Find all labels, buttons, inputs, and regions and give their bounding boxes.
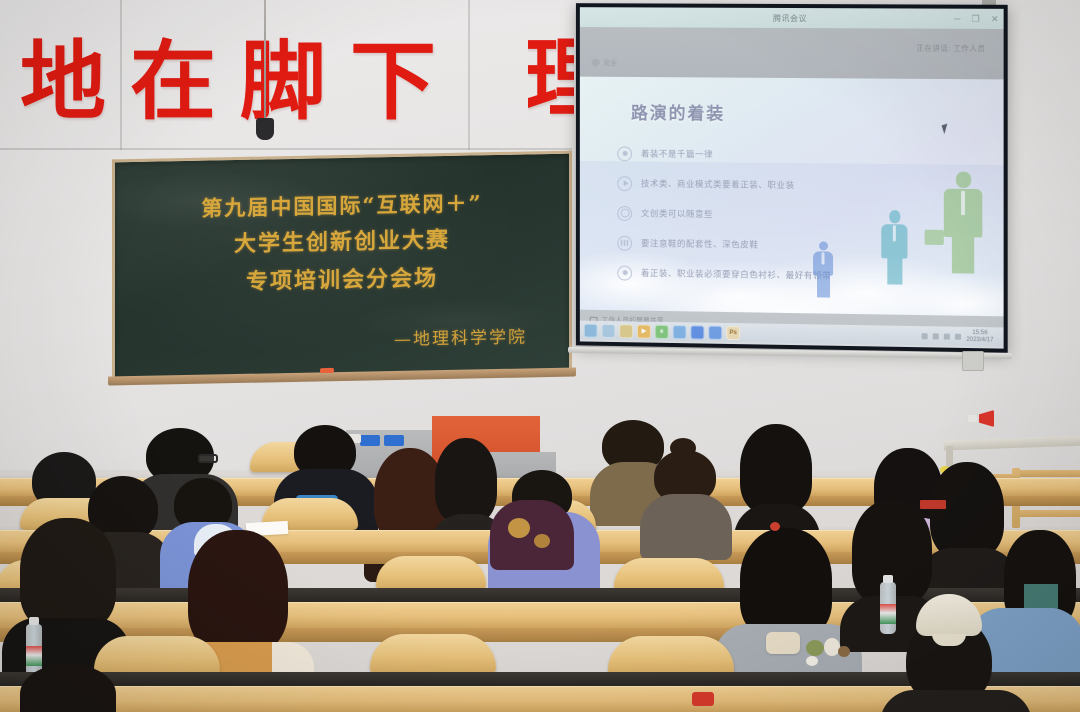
blackboard-text: 第九届中国国际“互联网＋” 大学生创新创业大赛 专项培训会分会场	[115, 184, 569, 304]
blackboard: 第九届中国国际“互联网＋” 大学生创新创业大赛 专项培训会分会场 —地理科学学院	[112, 151, 572, 382]
torso	[640, 494, 732, 560]
powerpoint-slide: 路演的着装 着装不是千篇一律 技术类、商业模式类要着正装、职业装 文创类可以随意…	[580, 77, 1004, 317]
wall-char-4: 下	[350, 39, 436, 125]
tray-icon[interactable]	[944, 333, 950, 339]
figure-head	[955, 172, 970, 188]
chair-back	[614, 558, 724, 592]
blue-container	[360, 435, 380, 446]
eyeglasses	[198, 454, 218, 463]
wire-clamp	[256, 118, 274, 140]
bottle-label	[26, 646, 42, 666]
floral-pattern	[508, 518, 530, 538]
system-tray[interactable]: 15:56 2023/4/17	[922, 329, 1000, 344]
small-red-object	[770, 522, 780, 531]
media-player-icon[interactable]: ▶	[637, 324, 651, 338]
blackboard-signature: —地理科学学院	[394, 322, 527, 350]
meeting-window-titlebar: 腾讯会议 ─ ❐ ✕	[580, 7, 1004, 29]
windows-taskbar: ▶ e Ps 15:56 2023/4/17	[580, 321, 1004, 347]
silhouette-figures	[804, 117, 996, 300]
bullet-text: 着正装、职业装必须要穿白色衬衫、最好有领带	[641, 267, 831, 282]
taskbar-clock[interactable]: 15:56 2023/4/17	[966, 330, 996, 344]
tray-icon[interactable]	[922, 333, 928, 339]
chair-back	[608, 636, 734, 676]
right-bookshelf-top	[1016, 470, 1080, 477]
bottle-cap	[883, 575, 893, 583]
target-icon	[617, 205, 632, 220]
chat-icon[interactable]	[673, 325, 687, 339]
wall-seam-bottom	[0, 148, 572, 150]
bullet-text: 技术类、商业模式类要着正装、职业装	[641, 177, 795, 191]
wall-banner: 地 在 脚 下	[20, 36, 580, 128]
chalk-piece	[320, 368, 334, 373]
badge-check-icon	[617, 265, 632, 280]
snack-items	[838, 646, 850, 657]
bottle-label	[880, 604, 896, 624]
play-icon	[617, 176, 632, 191]
floral-pattern	[534, 534, 550, 548]
meeting-toolbar-band: 正在讲话: 工作人员 安全	[580, 27, 1004, 79]
snack-wrapper	[766, 632, 800, 654]
megaphone-grip	[968, 415, 977, 422]
browser-icon[interactable]	[584, 323, 598, 337]
folder-icon[interactable]	[619, 324, 633, 338]
chair-back	[94, 636, 220, 676]
wall-char-3: 脚	[240, 39, 326, 125]
figure-head	[819, 241, 828, 250]
figure-tie	[961, 191, 965, 215]
hair	[188, 530, 288, 654]
hair-bun	[670, 438, 696, 458]
security-indicator[interactable]: 安全	[592, 58, 618, 68]
bullet-text: 着装不是千篇一律	[641, 148, 713, 161]
security-label: 安全	[603, 58, 617, 68]
hair	[435, 438, 497, 524]
businessman-small-silhouette	[808, 241, 838, 297]
figure-legs	[952, 237, 974, 274]
businesswoman-silhouette	[876, 210, 912, 285]
briefcase-icon	[925, 230, 944, 245]
red-cap-object	[692, 692, 714, 706]
slide-title: 路演的着装	[631, 99, 725, 125]
red-book	[920, 500, 946, 509]
wall-char-2: 在	[130, 39, 216, 125]
megaphone	[968, 410, 994, 432]
badge-check-icon	[617, 146, 632, 161]
grid-icon	[617, 235, 632, 250]
bullet-text: 要注意鞋的配套性、深色皮鞋	[641, 237, 758, 251]
meeting-icon[interactable]	[690, 325, 704, 339]
figure-head	[889, 210, 900, 223]
ie-browser-icon[interactable]: e	[655, 324, 669, 338]
compass-icon[interactable]	[602, 323, 616, 337]
minimize-icon[interactable]: ─	[954, 14, 960, 24]
right-bookshelf-mid	[1018, 510, 1080, 517]
hair	[20, 518, 116, 630]
mouse-cursor-icon	[942, 124, 951, 134]
close-icon[interactable]: ✕	[991, 13, 999, 24]
wall-char-partial: 理	[528, 36, 574, 122]
tray-icon[interactable]	[933, 333, 939, 339]
hair	[740, 528, 832, 638]
figure-legs	[817, 275, 830, 297]
photos-icon[interactable]	[708, 325, 722, 339]
active-speaker-label: 正在讲话: 工作人员	[916, 43, 985, 54]
bottle-cap	[29, 617, 39, 625]
torso	[490, 500, 574, 570]
wall-char-1: 地	[20, 39, 106, 125]
water-bottle	[26, 624, 42, 676]
projected-image: 腾讯会议 ─ ❐ ✕ 正在讲话: 工作人员 安全 路演的着装	[580, 7, 1004, 348]
tray-icon[interactable]	[955, 333, 961, 339]
window-controls: ─ ❐ ✕	[954, 9, 999, 29]
snack-items	[806, 640, 824, 656]
figure-collar	[893, 225, 896, 241]
shield-icon	[592, 58, 600, 67]
bullet-text: 文创类可以随意些	[641, 207, 713, 220]
megaphone-horn	[974, 410, 994, 427]
photoshop-icon[interactable]: Ps	[726, 325, 740, 339]
businessman-large-silhouette	[937, 172, 990, 274]
figure-legs	[887, 258, 902, 284]
projection-screen: 腾讯会议 ─ ❐ ✕ 正在讲话: 工作人员 安全 路演的着装	[576, 3, 1008, 353]
classroom-scene: 地 在 脚 下 理 第九届中国国际“互联网＋” 大学生创新创业大赛 专项培训会分…	[0, 0, 1080, 712]
chair-back	[376, 556, 486, 590]
meeting-footer-band: 工作人员的屏幕共享 ▶ e Ps	[580, 310, 1004, 347]
blue-container	[384, 435, 404, 446]
hair	[740, 424, 812, 514]
clock-date: 2023/4/17	[966, 336, 993, 343]
water-bottle	[880, 582, 896, 634]
wall-char-partial-clip: 理	[528, 36, 574, 128]
meeting-window-title: 腾讯会议	[773, 12, 807, 23]
maximize-icon[interactable]: ❐	[972, 13, 980, 24]
wall-bracket	[962, 351, 984, 371]
chair-back	[370, 634, 496, 674]
torso	[880, 690, 1032, 712]
hanging-wire	[264, 0, 266, 120]
snack-items	[806, 656, 818, 666]
hair	[930, 462, 1004, 558]
figure-tie	[822, 252, 825, 264]
